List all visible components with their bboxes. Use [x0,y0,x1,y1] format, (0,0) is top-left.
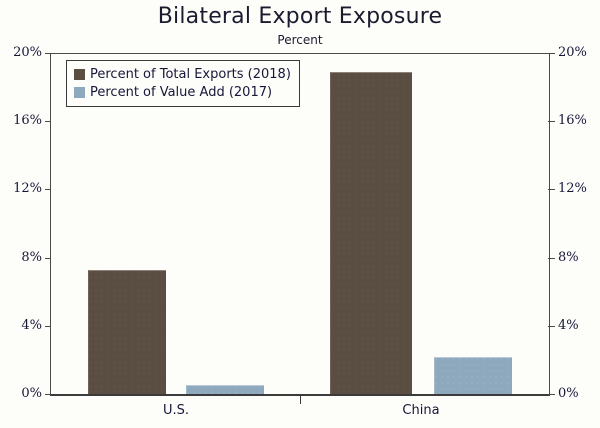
y-ticklabel-right-16: 16% [558,113,600,128]
y-ticklabel-right-20: 20% [558,45,600,60]
y-tick-left-8 [45,258,51,259]
chart-container: Bilateral Export Exposure Percent 20% 16… [0,0,600,428]
legend-label-total-exports: Percent of Total Exports (2018) [90,67,291,82]
chart-subtitle: Percent [0,33,600,47]
y-tick-right-8 [548,258,555,259]
legend-item-total-exports: Percent of Total Exports (2018) [74,65,291,83]
y-tick-left-0 [45,394,51,395]
y-ticklabel-left-12: 12% [2,181,42,196]
y-tick-right-4 [548,326,555,327]
legend-label-value-add: Percent of Value Add (2017) [90,85,272,100]
y-ticklabel-left-20: 20% [2,45,42,60]
y-ticklabel-right-8: 8% [558,250,600,265]
legend-item-value-add: Percent of Value Add (2017) [74,83,291,101]
y-ticklabel-right-12: 12% [558,181,600,196]
axis-line-top [50,53,550,54]
chart-legend: Percent of Total Exports (2018) Percent … [66,60,300,107]
y-ticklabel-left-0: 0% [2,386,42,401]
x-axis-category-divider [300,396,301,404]
y-tick-right-20 [548,53,555,54]
y-tick-left-12 [45,189,51,190]
x-ticklabel-us: U.S. [126,403,226,418]
y-axis-left-spine [50,53,51,395]
y-tick-left-16 [45,121,51,122]
y-ticklabel-left-16: 16% [2,113,42,128]
y-axis-right-spine [549,53,550,395]
y-tick-right-16 [548,121,555,122]
y-tick-right-12 [548,189,555,190]
x-ticklabel-china: China [371,403,471,418]
legend-swatch-icon-total-exports [74,69,85,80]
y-ticklabel-left-8: 8% [2,250,42,265]
bar-china-value-add [434,357,512,395]
bar-us-value-add [186,385,264,394]
bar-china-total-exports [330,72,412,394]
y-tick-right-0 [548,394,555,395]
chart-title: Bilateral Export Exposure [0,4,600,29]
y-tick-left-4 [45,326,51,327]
y-tick-left-20 [45,53,51,54]
legend-swatch-icon-value-add [74,87,85,98]
y-ticklabel-right-4: 4% [558,318,600,333]
y-ticklabel-left-4: 4% [2,318,42,333]
bar-us-total-exports [88,270,166,394]
y-ticklabel-right-0: 0% [558,386,600,401]
